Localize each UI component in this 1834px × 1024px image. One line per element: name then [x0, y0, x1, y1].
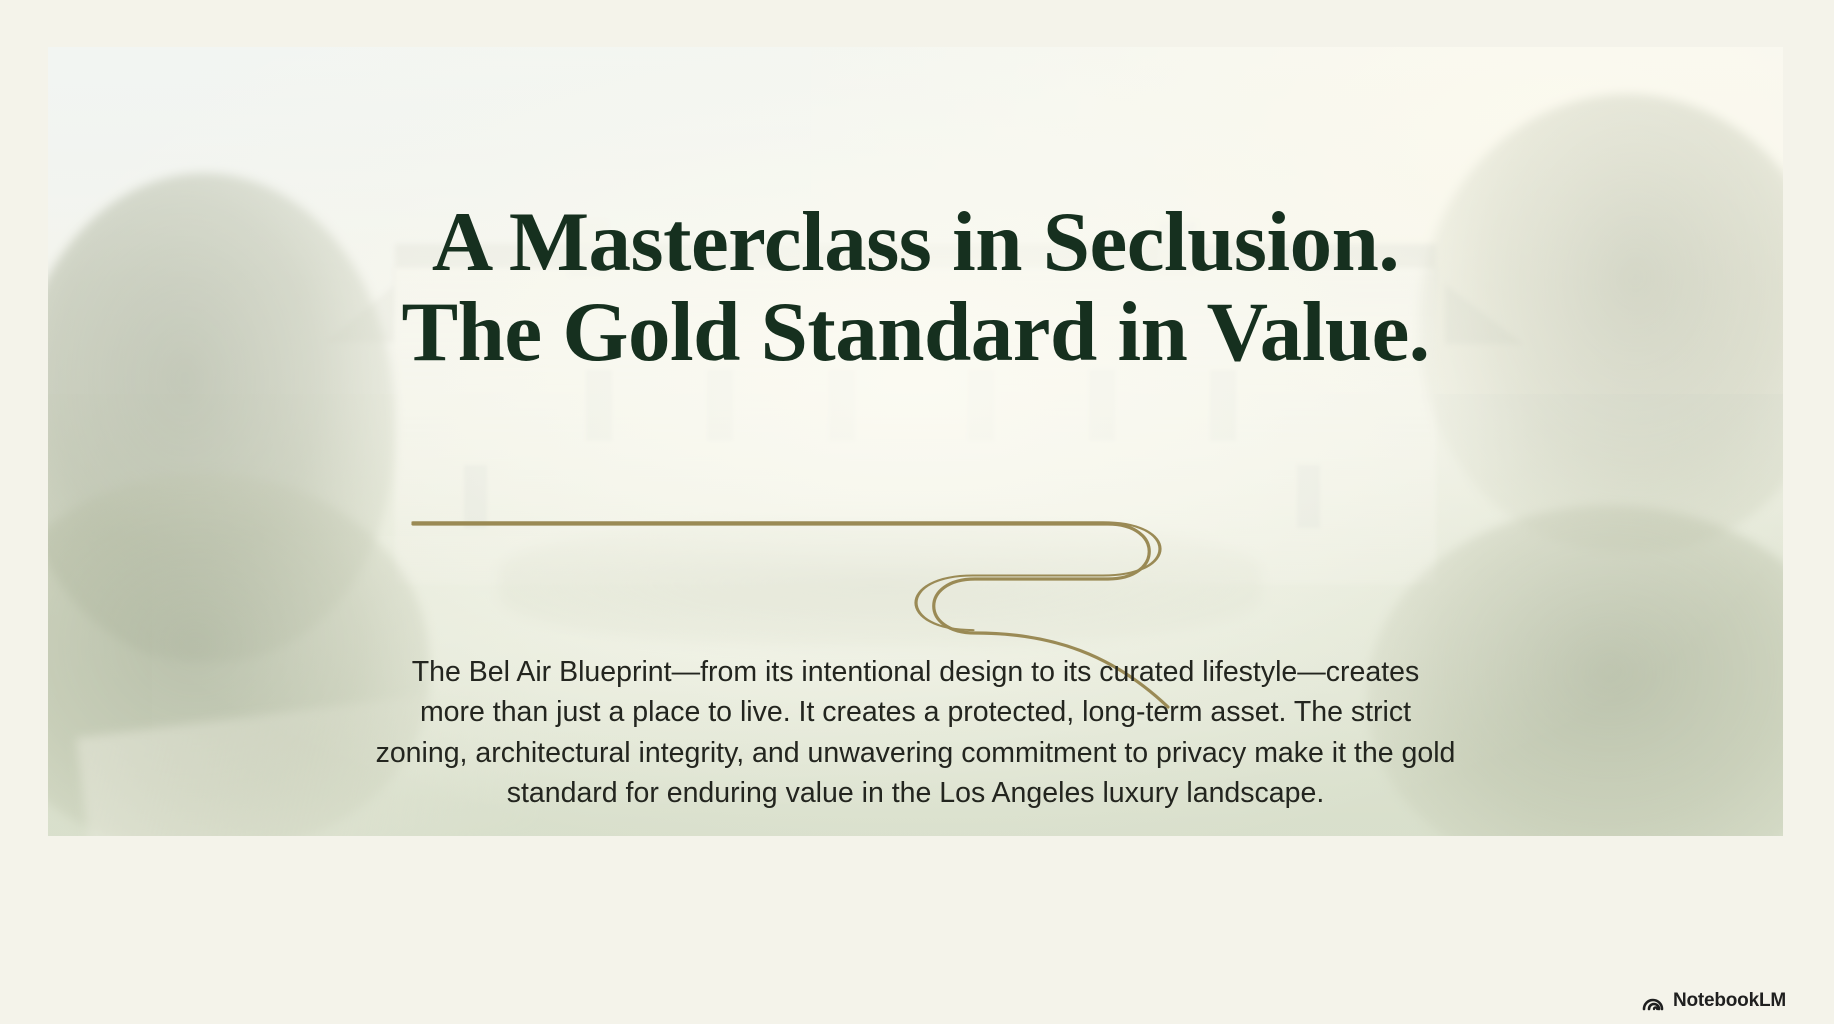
body-paragraph: The Bel Air Blueprint—from its intention… [376, 652, 1456, 814]
notebooklm-watermark: NotebookLM [1642, 990, 1786, 1012]
headline-line-2: The Gold Standard in Value. [326, 287, 1506, 377]
notebooklm-arc-icon [1642, 991, 1664, 1011]
headline-line-1: A Masterclass in Seclusion. [326, 197, 1506, 287]
slide-page: A Masterclass in Seclusion. The Gold Sta… [0, 0, 1834, 1024]
page-title: A Masterclass in Seclusion. The Gold Sta… [326, 197, 1506, 377]
slide-canvas: A Masterclass in Seclusion. The Gold Sta… [48, 47, 1783, 836]
notebooklm-wordmark: NotebookLM [1673, 990, 1786, 1012]
